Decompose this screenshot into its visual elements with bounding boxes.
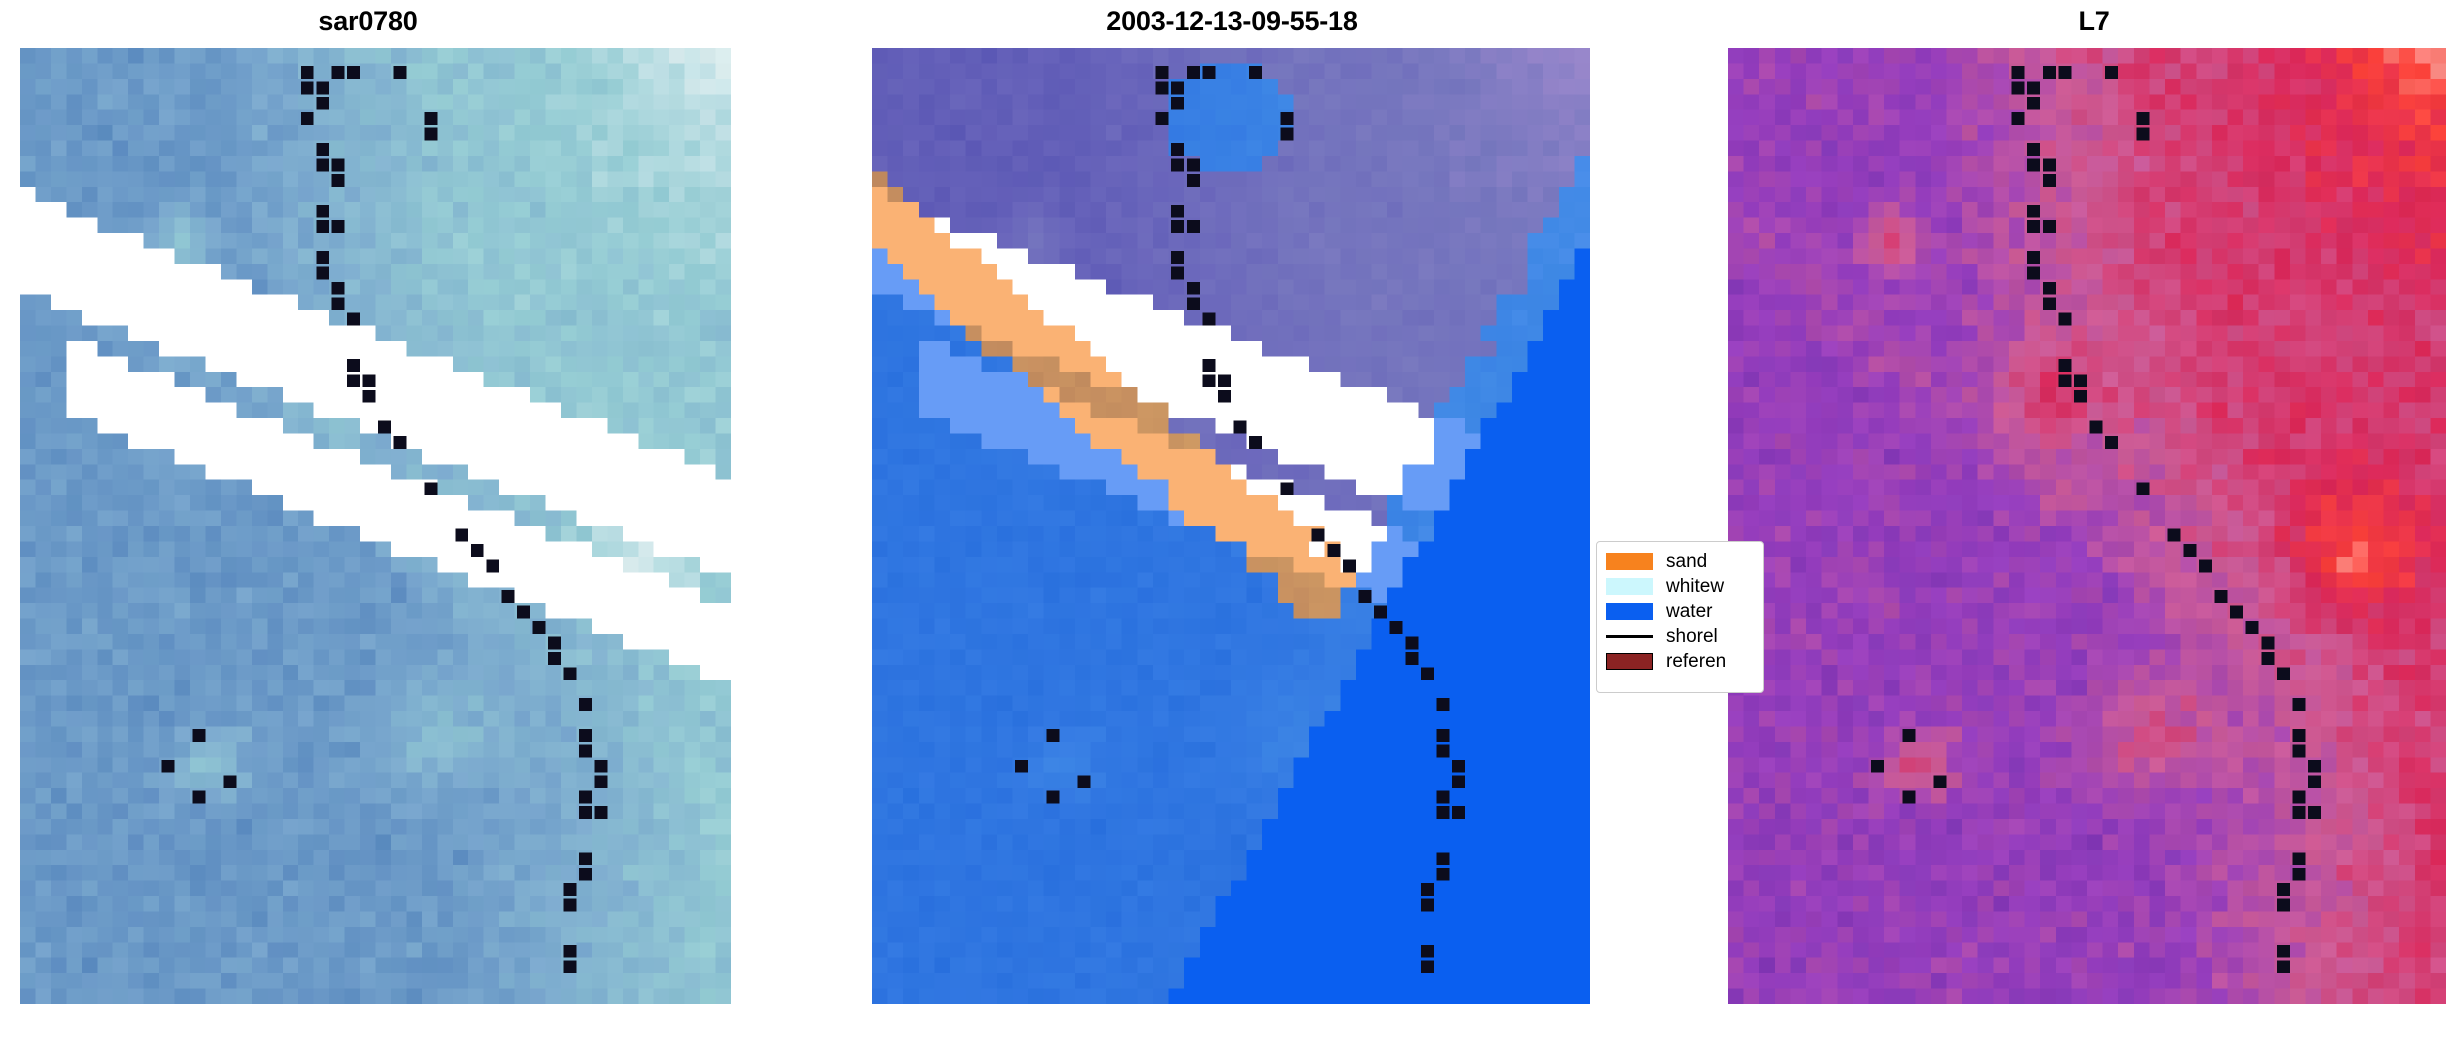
l7-raster (1728, 48, 2446, 1004)
sar-raster (20, 48, 731, 1004)
legend-label-whitewater: whitew (1666, 577, 1724, 596)
panel-l7-image[interactable] (1728, 48, 2446, 1004)
legend-item-water: water (1606, 599, 1754, 624)
legend-swatch-sand (1606, 553, 1653, 570)
panel-title-sar: sar0780 (0, 6, 768, 37)
legend-swatch-reference (1606, 653, 1653, 670)
panel-sar-image[interactable] (20, 48, 731, 1004)
legend-label-sand: sand (1666, 552, 1707, 571)
legend-label-water: water (1666, 602, 1712, 621)
legend-item-whitewater: whitew (1606, 574, 1754, 599)
classification-raster (872, 48, 1590, 1004)
legend-label-reference: referen (1666, 652, 1726, 671)
legend-swatch-whitewater (1606, 578, 1653, 595)
legend-item-reference: referen (1606, 649, 1754, 674)
panel-title-l7: L7 (1694, 6, 2460, 37)
legend-swatch-water (1606, 603, 1653, 620)
figure-canvas: sar0780 2003-12-13-09-55-18 L7 sand whit… (0, 0, 2460, 1037)
legend-swatch-shoreline (1606, 635, 1653, 638)
legend-label-shoreline: shorel (1666, 627, 1718, 646)
legend-item-shoreline: shorel (1606, 624, 1754, 649)
panel-title-classification: 2003-12-13-09-55-18 (832, 6, 1632, 37)
legend-box: sand whitew water shorel referen (1596, 541, 1764, 693)
panel-classification-overlay[interactable] (872, 48, 1590, 1004)
legend-item-sand: sand (1606, 549, 1754, 574)
